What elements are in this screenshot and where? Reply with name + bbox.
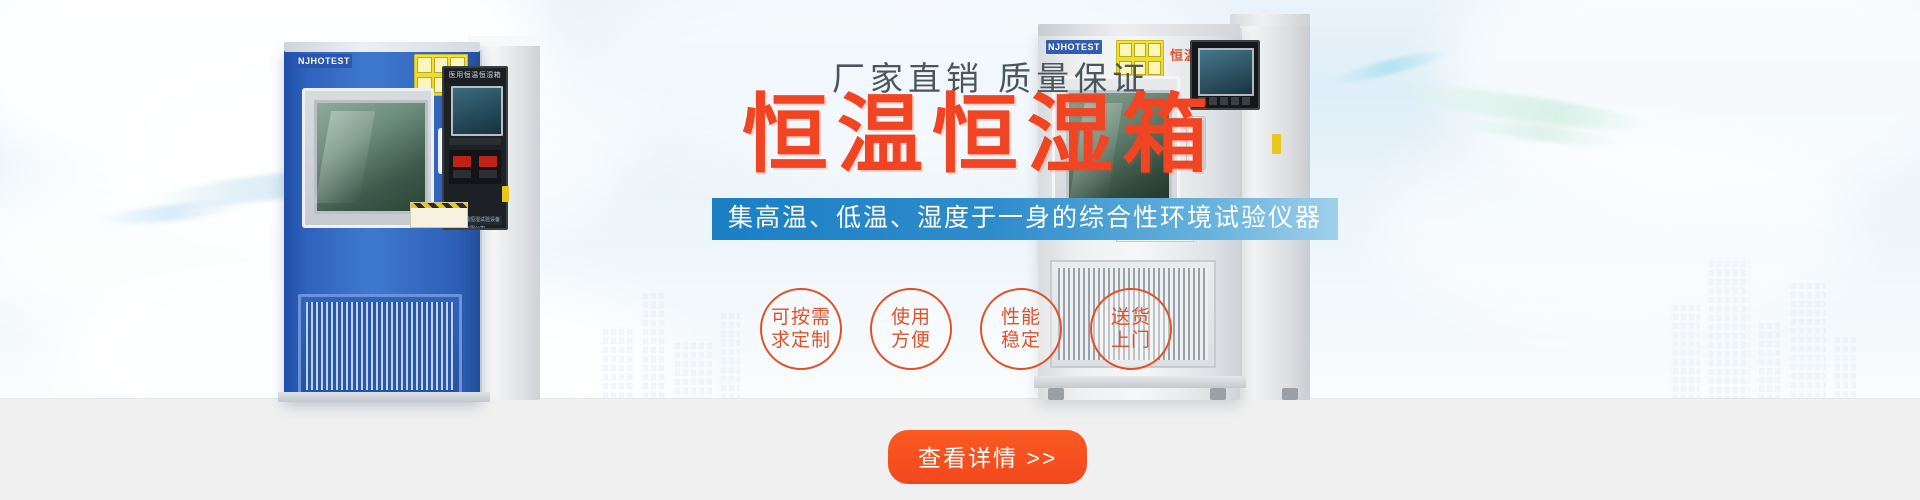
feature-badge-custom[interactable]: 可按需 求定制 xyxy=(760,288,842,370)
badge-line-1: 送货 xyxy=(1111,306,1151,329)
badge-line-1: 使用 xyxy=(891,306,931,329)
feature-badge-stable[interactable]: 性能 稳定 xyxy=(980,288,1062,370)
headline: 恒温恒湿箱 xyxy=(742,92,1217,178)
badge-line-2: 稳定 xyxy=(1001,329,1041,352)
promo-banner: NJHOTEST 医用恒温恒湿箱 南京恒温恒湿试验设备有限公司 xyxy=(0,0,1920,500)
feature-badge-list: 可按需 求定制 使用 方便 性能 稳定 送货 上门 xyxy=(760,288,1172,370)
view-details-button[interactable]: 查看详情 >> xyxy=(888,430,1087,484)
feature-badge-easy-use[interactable]: 使用 方便 xyxy=(870,288,952,370)
badge-line-2: 方便 xyxy=(891,329,931,352)
badge-line-2: 上门 xyxy=(1111,329,1151,352)
subtitle-bar: 集高温、低温、湿度于一身的综合性环境试验仪器 xyxy=(712,198,1338,240)
feature-badge-delivery[interactable]: 送货 上门 xyxy=(1090,288,1172,370)
badge-line-2: 求定制 xyxy=(771,329,831,352)
badge-line-1: 性能 xyxy=(1001,306,1041,329)
banner-copy: 厂家直销 质量保证 恒温恒湿箱 集高温、低温、湿度于一身的综合性环境试验仪器 可… xyxy=(0,0,1920,500)
badge-line-1: 可按需 xyxy=(771,306,831,329)
